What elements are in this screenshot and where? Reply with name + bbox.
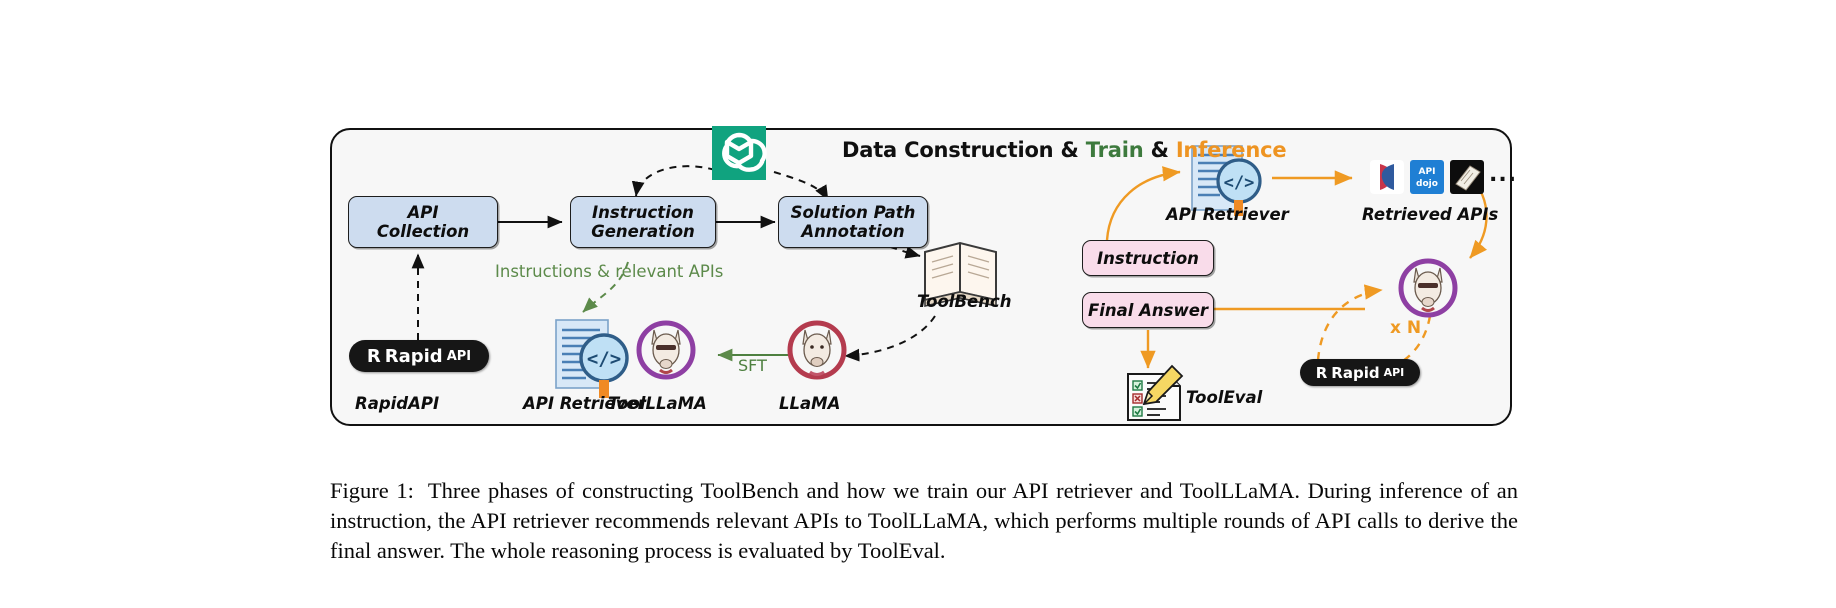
rapidapi-word-left: Rapid [385, 346, 443, 367]
process-box-api-collection-line2: Collection [377, 222, 469, 241]
pink-box-final-answer-label: Final Answer [1088, 301, 1208, 320]
title-part-amp: & [1143, 138, 1175, 162]
title-part-train: Train [1086, 138, 1144, 162]
rapidapi-badge-right[interactable]: R Rapid API [1300, 359, 1420, 386]
rapidapi-mark-icon-right: R [1316, 364, 1328, 382]
diagram-title: Data Construction & Train & Inference [842, 138, 1286, 162]
process-box-instruction-generation[interactable]: Instruction Generation [570, 196, 716, 248]
figure-caption: Figure 1:Three phases of constructing To… [330, 476, 1518, 566]
rapidapi-mark-icon-left: R [367, 346, 381, 367]
caption-llama: LLaMA [779, 394, 840, 413]
process-box-api-collection-line1: API [407, 203, 438, 222]
edge-label-sft: SFT [738, 356, 767, 375]
title-part-inference: Inference [1176, 138, 1287, 162]
retrieved-apis-ellipsis: ... [1489, 162, 1517, 187]
edge-label-x-n: x N [1390, 318, 1421, 338]
rapidapi-suffix-left: API [447, 349, 471, 364]
process-box-api-collection[interactable]: API Collection [348, 196, 498, 248]
figure-caption-number: Figure 1: [330, 478, 414, 503]
caption-rapidapi-left: RapidAPI [355, 394, 439, 413]
pink-box-instruction-label: Instruction [1097, 249, 1199, 268]
caption-toolllama: ToolLLaMA [608, 394, 707, 413]
caption-toolbench: ToolBench [917, 292, 1012, 311]
rapidapi-badge-left[interactable]: R Rapid API [349, 340, 489, 372]
figure-root: </> [0, 0, 1836, 608]
title-part-data-construction: Data Construction & [842, 138, 1086, 162]
pink-box-final-answer[interactable]: Final Answer [1082, 292, 1214, 328]
process-box-instruction-generation-line2: Generation [591, 222, 695, 241]
pink-box-instruction[interactable]: Instruction [1082, 240, 1214, 276]
edge-label-instructions-relevant-apis: Instructions & relevant APIs [495, 262, 723, 281]
caption-retrieved-apis: Retrieved APIs [1362, 205, 1498, 224]
rapidapi-suffix-right: API [1384, 366, 1405, 379]
figure-caption-text: Three phases of constructing ToolBench a… [330, 478, 1518, 563]
process-box-solution-path-line2: Annotation [801, 222, 904, 241]
rapidapi-word-right: Rapid [1331, 364, 1379, 382]
caption-tooleval: ToolEval [1186, 388, 1262, 407]
process-box-instruction-generation-line1: Instruction [592, 203, 694, 222]
process-box-solution-path-annotation[interactable]: Solution Path Annotation [778, 196, 928, 248]
process-box-solution-path-line1: Solution Path [791, 203, 916, 222]
caption-api-retriever-right: API Retriever [1166, 205, 1289, 224]
